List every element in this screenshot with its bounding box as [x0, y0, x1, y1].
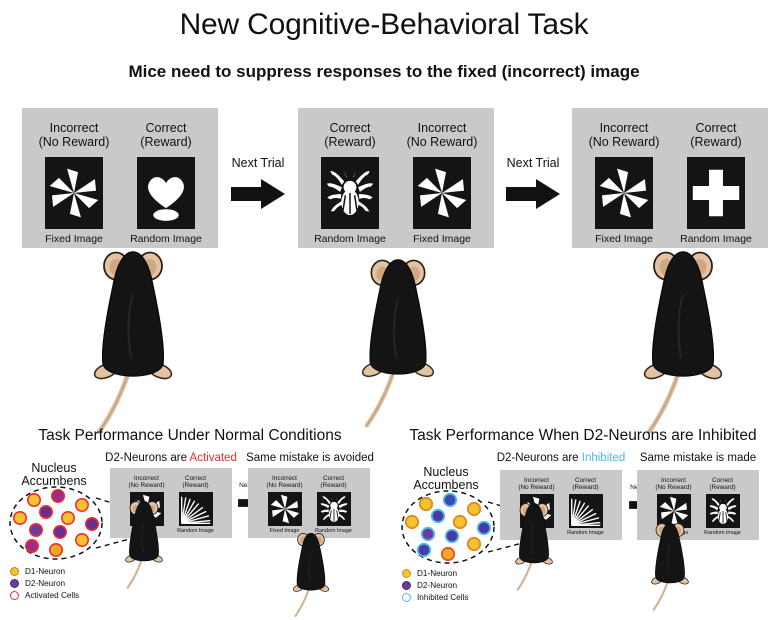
page-subtitle: Mice need to suppress responses to the f…: [0, 62, 768, 82]
legend-item-d1: D1-Neuron: [402, 569, 468, 578]
stimulus-foot: Random Image: [567, 530, 604, 536]
section-title-inhibited: Task Performance When D2-Neurons are Inh…: [398, 427, 768, 445]
trial-panel-3: Incorrect (No Reward) Fixed Image Correc…: [572, 108, 768, 248]
legend-item-d2: D2-Neuron: [10, 579, 79, 588]
stimulus-incorrect[interactable]: Incorrect (No Reward) Fixed Image: [403, 122, 481, 245]
stimulus-correct[interactable]: Correct (Reward) Random Image: [702, 477, 744, 536]
arrow-right-icon: [229, 177, 287, 211]
d1-neuron-swatch: [402, 569, 411, 578]
stimulus-foot: Random Image: [680, 233, 752, 245]
arrow-right-icon: [504, 177, 562, 211]
legend-item-d1: D1-Neuron: [10, 567, 79, 576]
pinwheel-icon[interactable]: [268, 492, 302, 526]
stimulus-title: Incorrect (No Reward): [39, 122, 110, 151]
legend-item-activated: Activated Cells: [10, 591, 79, 600]
next-trial-label: Next Trial: [232, 156, 285, 170]
fan-rays-icon[interactable]: [569, 494, 603, 528]
legend-right: D1-Neuron D2-Neuron Inhibited Cells: [402, 569, 468, 602]
legend-left: D1-Neuron D2-Neuron Activated Cells: [10, 567, 79, 600]
mouse-illustration-normal-trial-1: [120, 500, 168, 592]
next-trial-1: Next Trial: [222, 156, 294, 211]
stimulus-foot: Random Image: [704, 530, 741, 536]
d2-neuron-swatch: [10, 579, 19, 588]
legend-label: D2-Neuron: [25, 579, 65, 588]
legend-label: D1-Neuron: [417, 569, 457, 578]
legend-label: Activated Cells: [25, 591, 79, 600]
mouse-illustration-inhibited-trial-2: [646, 522, 694, 614]
stimulus-title: Incorrect (No Reward): [655, 477, 691, 492]
pinwheel-icon[interactable]: [595, 157, 653, 229]
stimulus-title: Correct (Reward): [140, 122, 191, 151]
stimulus-title: Correct (Reward): [182, 475, 208, 490]
trial-panel-1: Incorrect (No Reward) Fixed Image Correc…: [22, 108, 218, 248]
trial-panel-2: Correct (Reward) Random Image Incorrect …: [298, 108, 494, 248]
stimulus-incorrect[interactable]: Incorrect (No Reward) Fixed Image: [264, 475, 306, 534]
mouse-illustration-inhibited-trial-1: [510, 502, 558, 594]
condition-accent: Inhibited: [582, 452, 625, 464]
stimulus-title: Correct (Reward): [320, 475, 346, 490]
stimulus-title: Correct (Reward): [709, 477, 735, 492]
outcome-title-made: Same mistake is made: [634, 452, 762, 464]
stimulus-incorrect[interactable]: Incorrect (No Reward) Fixed Image: [35, 122, 113, 245]
section-title-normal: Task Performance Under Normal Conditions: [10, 427, 370, 445]
legend-label: Inhibited Cells: [417, 593, 468, 602]
stimulus-title: Incorrect (No Reward): [128, 475, 164, 490]
pinwheel-icon[interactable]: [413, 157, 471, 229]
stimulus-foot: Fixed Image: [595, 233, 653, 245]
page-title: New Cognitive-Behavioral Task: [0, 8, 768, 42]
d1-neuron-swatch: [10, 567, 19, 576]
stimulus-foot: Fixed Image: [413, 233, 471, 245]
next-trial-2: Next Trial: [497, 156, 569, 211]
outcome-title-avoided: Same mistake is avoided: [244, 452, 376, 464]
stimulus-foot: Random Image: [177, 528, 214, 534]
stimulus-correct[interactable]: Correct (Reward) Random Image: [313, 475, 355, 534]
inhibited-cells-swatch: [402, 593, 411, 602]
mouse-illustration-trial-3: [633, 250, 733, 440]
d2-neuron-swatch: [402, 581, 411, 590]
stimulus-title: Correct (Reward): [690, 122, 741, 151]
stimulus-incorrect[interactable]: Incorrect (No Reward) Fixed Image: [585, 122, 663, 245]
stimulus-foot: Random Image: [314, 233, 386, 245]
mouse-illustration-trial-2: [352, 258, 444, 433]
legend-item-inhibited: Inhibited Cells: [402, 593, 468, 602]
mouse-illustration-normal-trial-2: [288, 532, 334, 620]
stimulus-correct[interactable]: Correct (Reward) Random Image: [565, 477, 607, 536]
legend-item-d2: D2-Neuron: [402, 581, 468, 590]
heart-oval-icon[interactable]: [137, 157, 195, 229]
stimulus-correct[interactable]: Correct (Reward) Random Image: [175, 475, 217, 534]
stimulus-correct[interactable]: Correct (Reward) Random Image: [677, 122, 755, 245]
condition-accent: Activated: [190, 452, 237, 464]
stimulus-title: Incorrect (No Reward): [266, 475, 302, 490]
spider-icon[interactable]: [317, 492, 351, 526]
stimulus-foot: Fixed Image: [45, 233, 103, 245]
spider-icon[interactable]: [706, 494, 740, 528]
stimulus-correct[interactable]: Correct (Reward) Random Image: [311, 122, 389, 245]
stimulus-title: Correct (Reward): [324, 122, 375, 151]
mouse-illustration-trial-1: [83, 250, 183, 440]
next-trial-label: Next Trial: [507, 156, 560, 170]
legend-label: D2-Neuron: [417, 581, 457, 590]
stimulus-title: Correct (Reward): [572, 477, 598, 492]
fan-rays-icon[interactable]: [179, 492, 213, 526]
stimulus-title: Incorrect (No Reward): [407, 122, 478, 151]
mini-panel-normal-trial-2: Incorrect (No Reward) Fixed Image Correc…: [248, 468, 370, 538]
stimulus-foot: Random Image: [130, 233, 202, 245]
legend-label: D1-Neuron: [25, 567, 65, 576]
stimulus-correct[interactable]: Correct (Reward) Random Image: [127, 122, 205, 245]
stimulus-title: Incorrect (No Reward): [589, 122, 660, 151]
pinwheel-icon[interactable]: [45, 157, 103, 229]
activated-cells-swatch: [10, 591, 19, 600]
condition-title-inhibited: D2-Neurons are Inhibited: [487, 452, 635, 464]
spider-icon[interactable]: [321, 157, 379, 229]
stimulus-title: Incorrect (No Reward): [518, 477, 554, 492]
cross-icon[interactable]: [687, 157, 745, 229]
condition-title-activated: D2-Neurons are Activated: [97, 452, 245, 464]
